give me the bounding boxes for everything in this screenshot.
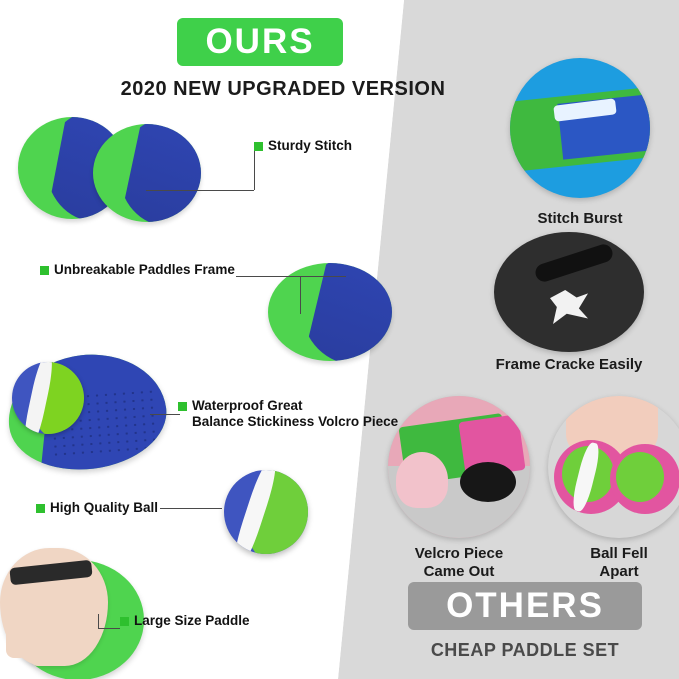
bullet-square	[254, 142, 263, 151]
leader-line-large-paddle-h	[98, 628, 120, 629]
paddle-top-right	[93, 124, 201, 222]
leader-line-sturdy-stitch-h	[146, 190, 254, 191]
callout-high-quality-ball: High Quality Ball	[36, 500, 158, 516]
others-banner: OTHERS	[408, 582, 642, 630]
ball-half-right	[610, 444, 679, 514]
hand-strap	[9, 560, 92, 585]
others-subtitle: CHEAP PADDLE SET	[390, 640, 660, 661]
finger	[30, 610, 52, 666]
others-banner-label: OTHERS	[446, 586, 604, 626]
ours-banner: OURS	[177, 18, 343, 66]
frame-crack-photo	[494, 232, 644, 352]
finger	[6, 606, 28, 658]
bullet-square	[178, 402, 187, 411]
velcro-came-out-photo	[388, 396, 530, 538]
ours-banner-label: OURS	[205, 22, 314, 62]
callout-label: Sturdy Stitch	[268, 138, 352, 154]
leader-line-large-paddle-v	[98, 614, 99, 628]
leader-line-frame-v	[300, 276, 301, 314]
bullet-square	[120, 617, 129, 626]
leader-line-sturdy-stitch-v	[254, 148, 255, 190]
callout-label: Waterproof Great Balance Stickiness Volc…	[192, 398, 398, 430]
paddle-velcro-pad	[302, 263, 392, 361]
ours-subtitle: 2020 NEW UPGRADED VERSION	[110, 78, 456, 101]
callout-label: Unbreakable Paddles Frame	[54, 262, 235, 278]
finger	[54, 608, 76, 662]
finger	[77, 600, 97, 646]
callout-label: Large Size Paddle	[134, 613, 250, 629]
high-quality-ball-photo	[224, 470, 308, 554]
thumb	[396, 452, 448, 508]
comparison-infographic: OURS 2020 NEW UPGRADED VERSION OTHERS CH…	[0, 0, 679, 679]
photo-background	[494, 232, 644, 352]
bullet-square	[36, 504, 45, 513]
caption-ball-fell-apart: Ball Fell Apart	[539, 545, 679, 581]
leader-line-frame-h	[236, 276, 346, 277]
caption-frame-cracke-easily: Frame Cracke Easily	[444, 356, 679, 374]
ball-fell-apart-photo	[548, 396, 679, 538]
leader-line-velcro-h	[150, 414, 180, 415]
callout-unbreakable-frame: Unbreakable Paddles Frame	[40, 262, 235, 278]
paddle-frame-closeup	[268, 263, 392, 361]
stitch-burst-photo	[510, 58, 650, 198]
callout-label: High Quality Ball	[50, 500, 158, 516]
caption-velcro-piece-came-out: Velcro Piece Came Out	[379, 545, 539, 581]
leader-line-ball-h	[160, 508, 222, 509]
callout-waterproof-velcro: Waterproof Great Balance Stickiness Volc…	[178, 398, 398, 430]
hand-holding-paddle	[0, 548, 108, 666]
bullet-square	[40, 266, 49, 275]
callout-large-size-paddle: Large Size Paddle	[120, 613, 250, 629]
caption-stitch-burst: Stitch Burst	[500, 210, 660, 228]
detached-velcro-disc	[460, 462, 516, 502]
paddle-velcro-pad	[119, 124, 201, 222]
callout-sturdy-stitch: Sturdy Stitch	[254, 138, 352, 154]
